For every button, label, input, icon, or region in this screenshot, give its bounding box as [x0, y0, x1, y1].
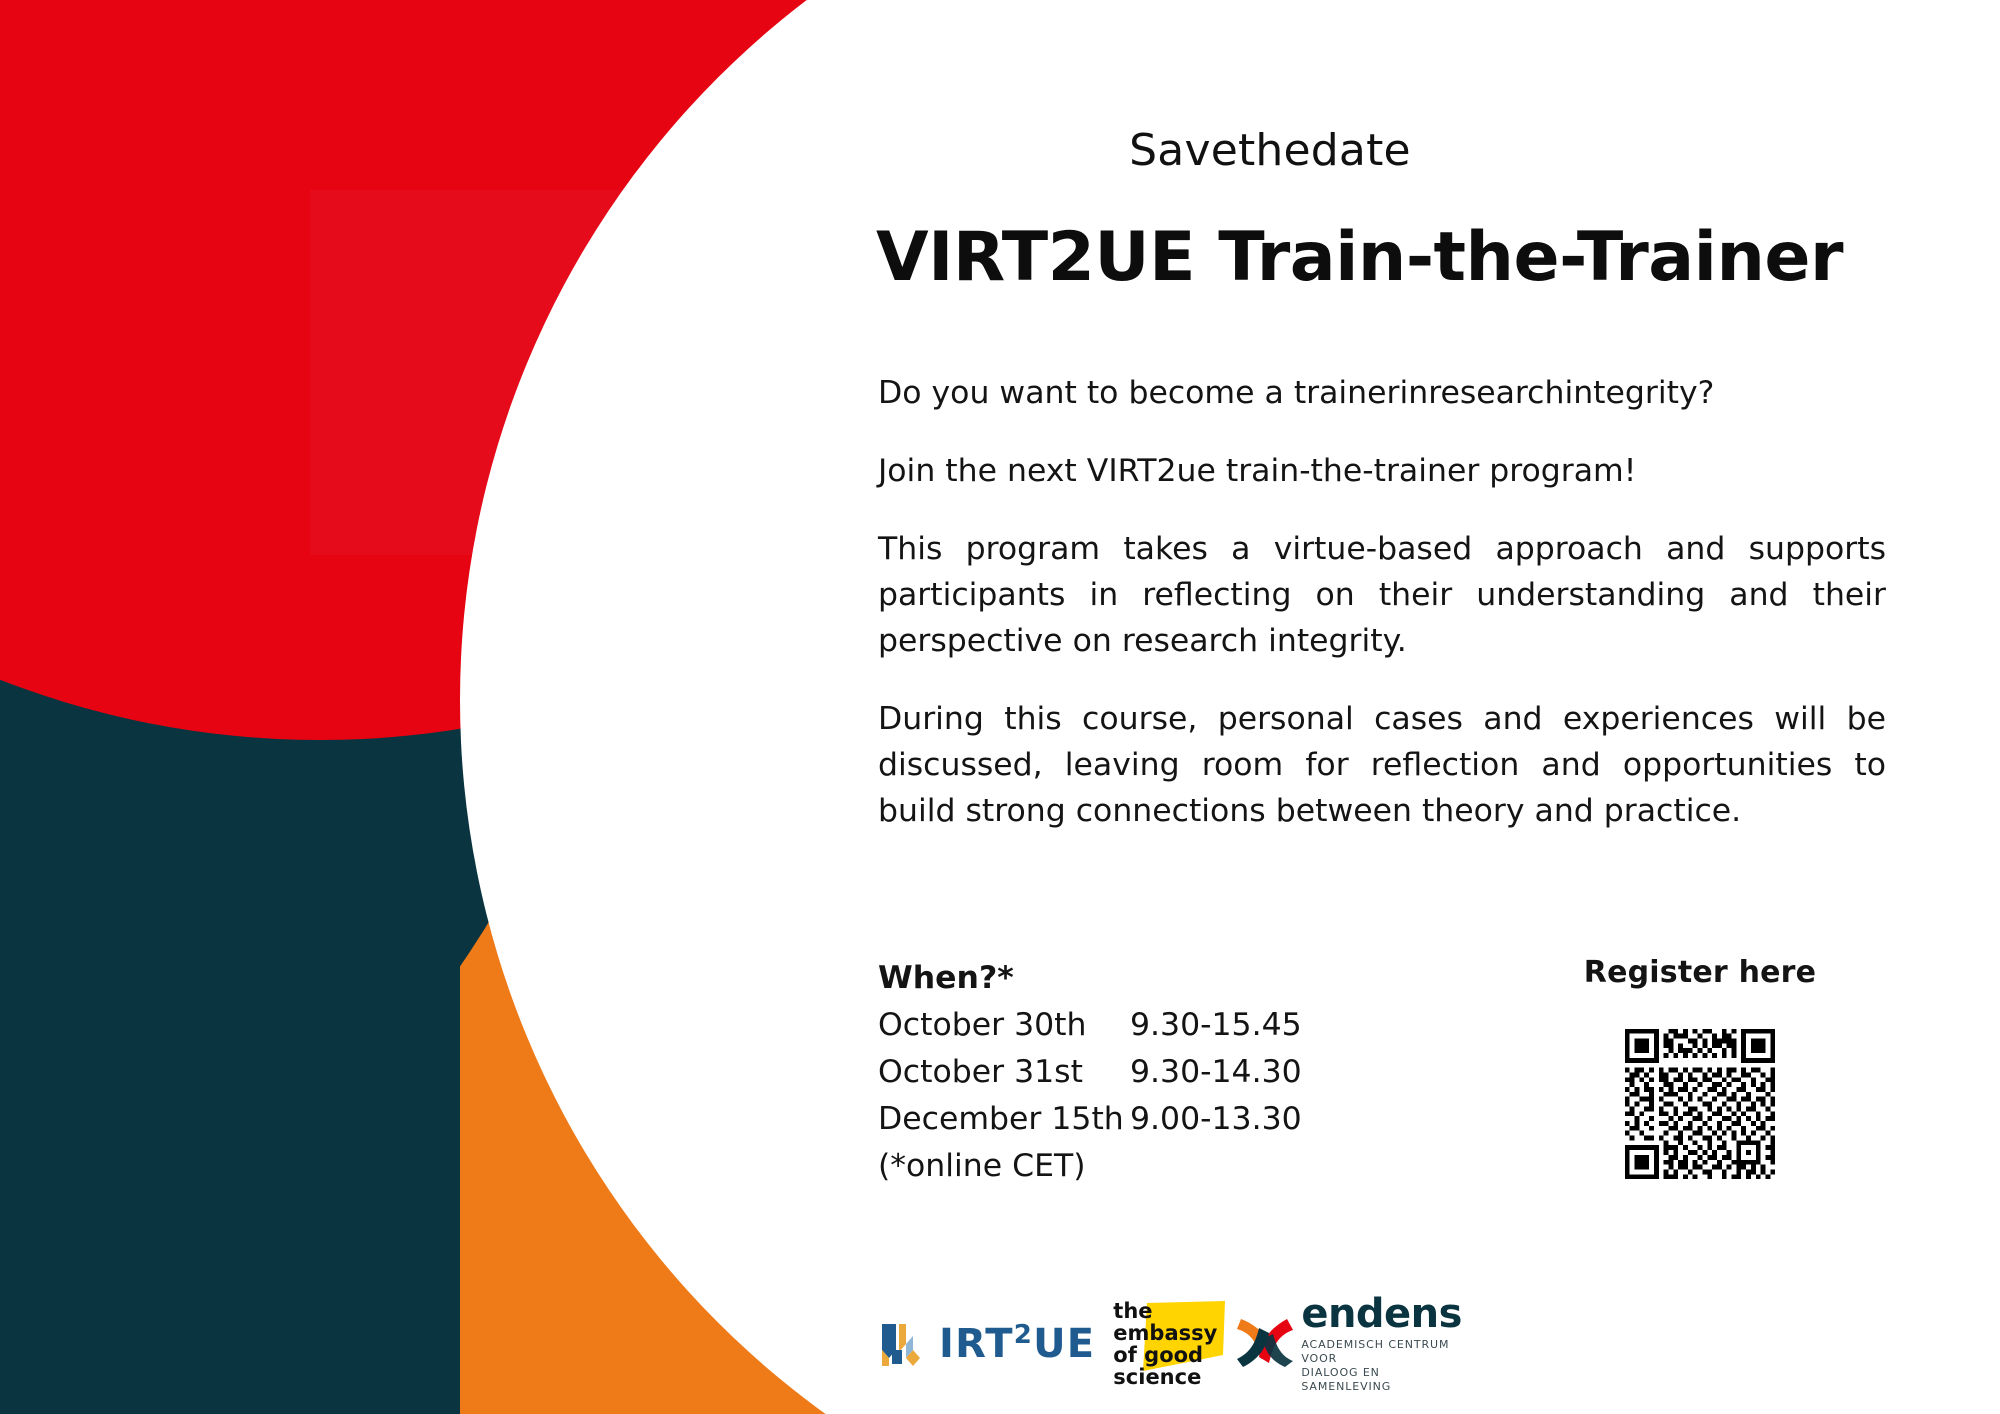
embassy-line-4: science [1113, 1366, 1217, 1388]
embassy-line-1: the [1113, 1300, 1217, 1322]
when-date: October 31st [878, 1049, 1130, 1096]
paragraph-join-cta: Join the next VIRT2ue train-the-trainer … [878, 448, 1886, 494]
register-heading: Register here [1480, 955, 1920, 990]
virt2ue-wordmark-sup: 2 [1014, 1322, 1033, 1348]
xendens-subtitle: ACADEMISCH CENTRUM VOOR DIALOOG EN SAMEN… [1301, 1338, 1462, 1394]
paragraph-program-description: This program takes a virtue-based approa… [878, 526, 1886, 664]
poster: Savethedate VIRT2UE Train-the-Trainer Do… [0, 0, 2000, 1414]
when-date: October 30th [878, 1002, 1130, 1049]
when-date: December 15th [878, 1096, 1130, 1143]
embassy-line-3: of good [1113, 1344, 1217, 1366]
when-time: 9.00-13.30 [1130, 1096, 1302, 1143]
qr-code-icon[interactable] [1620, 1024, 1780, 1184]
register-section: Register here [1480, 955, 1920, 1184]
paragraph-course-description: During this course, personal cases and e… [878, 696, 1886, 834]
qr-code-svg [1620, 1024, 1780, 1184]
body-copy: Do you want to become a trainerinresearc… [878, 370, 1886, 866]
embassy-wordmark: the embassy of good science [1113, 1300, 1217, 1388]
footer-logos: IRT2UE the embassy of good science [880, 1298, 1420, 1390]
when-row: October 30th 9.30-15.45 [878, 1002, 1348, 1049]
xendens-mark-svg [1235, 1313, 1297, 1375]
xendens-mark-icon [1235, 1313, 1297, 1375]
poster-content: Savethedate VIRT2UE Train-the-Trainer Do… [0, 0, 2000, 1414]
when-row: December 15th 9.00-13.30 [878, 1096, 1348, 1143]
virt2ue-logo: IRT2UE [880, 1320, 1095, 1368]
paragraph-intro-question: Do you want to become a trainerinresearc… [878, 370, 1886, 416]
virt2ue-wordmark: IRT2UE [939, 1324, 1095, 1364]
when-time: 9.30-14.30 [1130, 1049, 1302, 1096]
virt2ue-mark-svg [880, 1320, 932, 1368]
virt2ue-mark-icon [880, 1320, 932, 1368]
xendens-subtitle-line-1: ACADEMISCH CENTRUM VOOR [1301, 1338, 1462, 1366]
xendens-name: endens [1301, 1294, 1462, 1334]
xendens-subtitle-line-2: DIALOOG EN SAMENLEVING [1301, 1366, 1462, 1394]
when-heading: When?* [878, 955, 1348, 1002]
when-note: (*online CET) [878, 1143, 1348, 1190]
xendens-logo: endens ACADEMISCH CENTRUM VOOR DIALOOG E… [1235, 1294, 1462, 1394]
page-title: VIRT2UE Train-the-Trainer [876, 218, 1886, 297]
embassy-of-good-science-logo: the embassy of good science [1113, 1299, 1217, 1389]
xendens-wordmark: endens ACADEMISCH CENTRUM VOOR DIALOOG E… [1301, 1294, 1462, 1394]
embassy-line-2: embassy [1113, 1322, 1217, 1344]
when-section: When?* October 30th 9.30-15.45 October 3… [878, 955, 1348, 1190]
virt2ue-wordmark-tail: UE [1033, 1324, 1095, 1364]
save-the-date-kicker: Savethedate [880, 125, 1660, 176]
when-time: 9.30-15.45 [1130, 1002, 1302, 1049]
virt2ue-wordmark-main: IRT [939, 1324, 1014, 1364]
when-row: October 31st 9.30-14.30 [878, 1049, 1348, 1096]
